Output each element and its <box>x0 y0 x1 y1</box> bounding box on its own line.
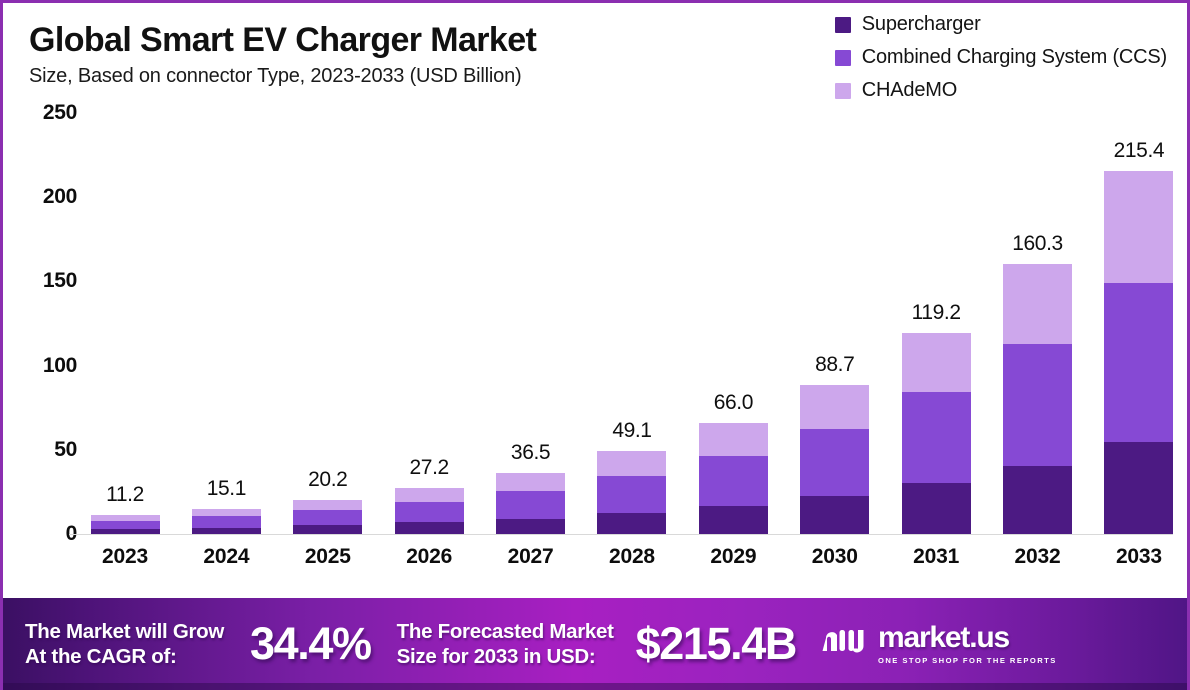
stacked-bar[interactable] <box>699 423 768 534</box>
bar-segment-chademo[interactable] <box>1003 264 1072 343</box>
logo-tagline: ONE STOP SHOP FOR THE REPORTS <box>878 656 1057 665</box>
bar-value-label: 160.3 <box>1012 232 1063 256</box>
y-axis-tick: 200 <box>43 185 77 209</box>
bar-segment-supercharger[interactable] <box>496 519 565 534</box>
bar-segment-chademo[interactable] <box>800 385 869 429</box>
cagr-caption-line2: At the CAGR of: <box>25 645 177 668</box>
x-axis-tick-label: 2026 <box>389 545 469 569</box>
bar-value-label: 11.2 <box>106 483 144 507</box>
bar-segment-chademo[interactable] <box>293 500 362 510</box>
bar-column[interactable]: 49.1 <box>592 113 672 534</box>
stacked-bar[interactable] <box>902 333 971 534</box>
bar-column[interactable]: 15.1 <box>186 113 266 534</box>
bar-segment-supercharger[interactable] <box>597 513 666 534</box>
x-axis-tick-label: 2025 <box>288 545 368 569</box>
bar-segment-ccs[interactable] <box>1104 283 1173 442</box>
bar-segment-ccs[interactable] <box>496 491 565 519</box>
legend-swatch-icon <box>835 50 851 66</box>
bar-segment-ccs[interactable] <box>293 510 362 525</box>
bar-segment-supercharger[interactable] <box>800 496 869 534</box>
bar-segment-supercharger[interactable] <box>902 483 971 534</box>
x-axis-tick-label: 2027 <box>491 545 571 569</box>
bar-segment-ccs[interactable] <box>800 429 869 497</box>
bar-segment-chademo[interactable] <box>496 473 565 491</box>
cagr-caption-line1: The Market will Grow <box>25 620 224 643</box>
chart-header: Global Smart EV Charger Market Size, Bas… <box>29 21 729 88</box>
bar-segment-ccs[interactable] <box>192 516 261 528</box>
bar-series-container: 11.215.120.227.236.549.166.088.7119.2160… <box>85 113 1179 534</box>
bar-value-label: 66.0 <box>714 391 753 415</box>
bar-value-label: 88.7 <box>815 353 854 377</box>
bar-value-label: 36.5 <box>511 441 550 465</box>
stacked-bar[interactable] <box>395 488 464 534</box>
stacked-bar[interactable] <box>91 515 160 534</box>
bar-column[interactable]: 27.2 <box>389 113 469 534</box>
bar-segment-ccs[interactable] <box>91 521 160 530</box>
bar-segment-supercharger[interactable] <box>1104 442 1173 534</box>
bar-segment-ccs[interactable] <box>395 502 464 523</box>
bar-column[interactable]: 160.3 <box>998 113 1078 534</box>
bar-column[interactable]: 119.2 <box>896 113 976 534</box>
bar-segment-ccs[interactable] <box>902 392 971 483</box>
bar-value-label: 15.1 <box>207 477 246 501</box>
bar-segment-ccs[interactable] <box>597 476 666 514</box>
bar-value-label: 27.2 <box>410 456 449 480</box>
bar-value-label: 215.4 <box>1114 139 1165 163</box>
legend-label: Combined Charging System (CCS) <box>862 46 1167 69</box>
forecast-block: The Forecasted Market Size for 2033 in U… <box>371 618 796 670</box>
logo-text: market.us ONE STOP SHOP FOR THE REPORTS <box>878 623 1057 665</box>
legend-label: CHAdeMO <box>862 79 957 102</box>
bar-segment-supercharger[interactable] <box>1003 466 1072 534</box>
x-axis-tick-label: 2023 <box>85 545 165 569</box>
y-axis: 050100150200250 <box>3 113 85 534</box>
bar-segment-supercharger[interactable] <box>192 528 261 534</box>
x-axis-tick-label: 2024 <box>186 545 266 569</box>
bar-segment-chademo[interactable] <box>699 423 768 456</box>
cagr-value: 34.4% <box>250 618 371 670</box>
x-axis-labels: 2023202420252026202720282029203020312032… <box>85 545 1179 569</box>
forecast-value: $215.4B <box>636 618 796 670</box>
bar-value-label: 119.2 <box>912 301 961 325</box>
bar-segment-chademo[interactable] <box>902 333 971 392</box>
forecast-caption-line1: The Forecasted Market <box>397 620 614 643</box>
stacked-bar[interactable] <box>1003 264 1072 534</box>
market-us-logo-icon <box>822 627 868 661</box>
brand-logo[interactable]: market.us ONE STOP SHOP FOR THE REPORTS <box>822 623 1057 665</box>
bar-segment-supercharger[interactable] <box>699 506 768 534</box>
bar-value-label: 20.2 <box>308 468 347 492</box>
bar-segment-chademo[interactable] <box>597 451 666 475</box>
bar-segment-ccs[interactable] <box>1003 344 1072 467</box>
legend-item-supercharger[interactable]: Supercharger <box>835 13 981 36</box>
x-axis-tick-label: 2028 <box>592 545 672 569</box>
x-axis-tick-label: 2031 <box>896 545 976 569</box>
bar-segment-supercharger[interactable] <box>293 525 362 534</box>
bar-segment-chademo[interactable] <box>1104 171 1173 283</box>
legend-label: Supercharger <box>862 13 981 36</box>
stacked-bar[interactable] <box>192 509 261 534</box>
y-axis-tick: 250 <box>43 101 77 125</box>
chart-plot-area: 050100150200250 11.215.120.227.236.549.1… <box>3 113 1190 598</box>
legend-swatch-icon <box>835 17 851 33</box>
bar-segment-supercharger[interactable] <box>91 529 160 534</box>
stacked-bar[interactable] <box>293 500 362 534</box>
infographic-page: Global Smart EV Charger Market Size, Bas… <box>0 0 1190 690</box>
y-axis-tick: 50 <box>54 438 77 462</box>
x-axis-tick-label: 2029 <box>693 545 773 569</box>
bar-column[interactable]: 11.2 <box>85 113 165 534</box>
cagr-caption: The Market will Grow At the CAGR of: <box>25 619 224 669</box>
y-axis-tick: 150 <box>43 269 77 293</box>
legend-item-ccs[interactable]: Combined Charging System (CCS) <box>835 46 1167 69</box>
y-axis-tick: 100 <box>43 354 77 378</box>
bar-column[interactable]: 215.4 <box>1099 113 1179 534</box>
bar-segment-chademo[interactable] <box>192 509 261 516</box>
bar-segment-chademo[interactable] <box>395 488 464 501</box>
x-axis-tick-label: 2033 <box>1099 545 1179 569</box>
bar-segment-ccs[interactable] <box>699 456 768 507</box>
footer-banner: The Market will Grow At the CAGR of: 34.… <box>3 598 1190 690</box>
x-axis-tick-label: 2030 <box>795 545 875 569</box>
legend-item-chademo[interactable]: CHAdeMO <box>835 79 957 102</box>
page-subtitle: Size, Based on connector Type, 2023-2033… <box>29 65 729 88</box>
bar-column[interactable]: 36.5 <box>491 113 571 534</box>
cagr-block: The Market will Grow At the CAGR of: 34.… <box>3 618 371 670</box>
page-title: Global Smart EV Charger Market <box>29 21 729 59</box>
chart-legend: Supercharger Combined Charging System (C… <box>835 13 1167 102</box>
stacked-bar[interactable] <box>800 385 869 534</box>
bar-column[interactable]: 88.7 <box>795 113 875 534</box>
bar-column[interactable]: 20.2 <box>288 113 368 534</box>
forecast-caption-line2: Size for 2033 in USD: <box>397 645 596 668</box>
stacked-bar[interactable] <box>496 473 565 534</box>
bar-column[interactable]: 66.0 <box>693 113 773 534</box>
bar-value-label: 49.1 <box>612 419 651 443</box>
forecast-caption: The Forecasted Market Size for 2033 in U… <box>397 619 614 669</box>
stacked-bar[interactable] <box>597 451 666 534</box>
x-axis-line <box>69 534 1173 535</box>
bar-segment-supercharger[interactable] <box>395 522 464 534</box>
stacked-bar[interactable] <box>1104 171 1173 534</box>
legend-swatch-icon <box>835 83 851 99</box>
logo-wordmark: market.us <box>878 623 1057 653</box>
x-axis-tick-label: 2032 <box>998 545 1078 569</box>
